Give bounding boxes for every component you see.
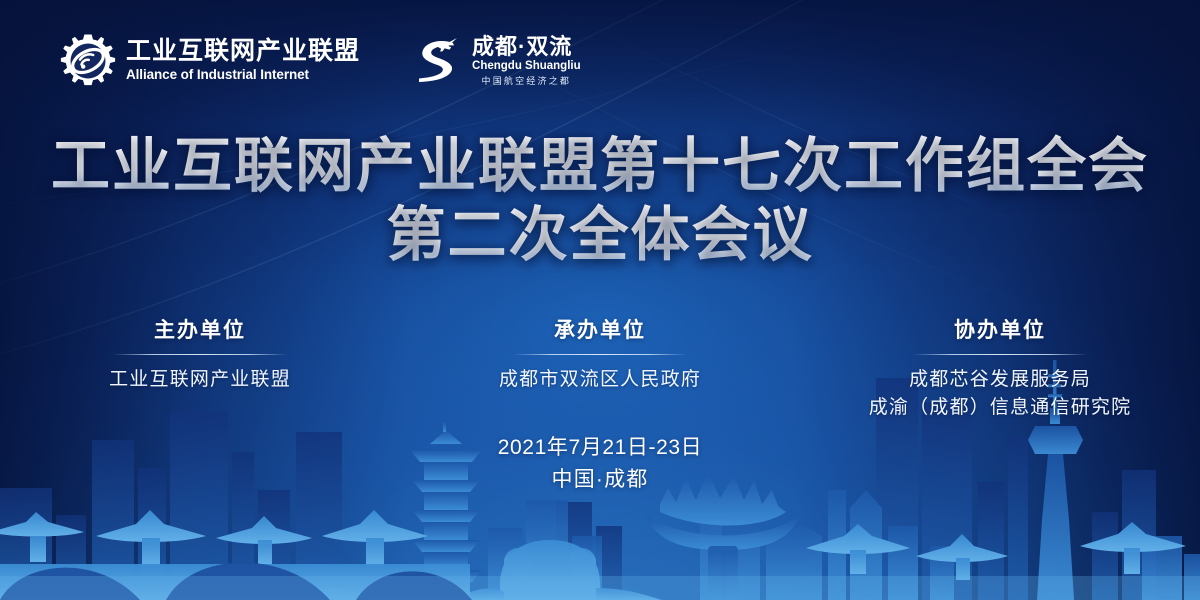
organizer-column-undertaker: 承办单位 成都市双流区人民政府 [400, 318, 800, 421]
conference-title: 工业互联网产业联盟第十七次工作组全会 第二次全体会议 [0, 132, 1200, 270]
logo-alliance-of-industrial-internet: 工业互联网产业联盟 Alliance of Industrial Interne… [60, 33, 360, 89]
organizer-name: 成都芯谷发展服务局 [814, 366, 1186, 394]
organizer-divider [513, 354, 687, 355]
logo-chengdu-shuangliu: 成都·双流 Chengdu Shuangliu 中国航空经济之都 [413, 33, 581, 89]
organizer-column-coorganizer: 协办单位 成都芯谷发展服务局 成渝（成都）信息通信研究院 [800, 318, 1200, 421]
organizer-column-host: 主办单位 工业互联网产业联盟 [0, 318, 400, 421]
event-date: 2021年7月21日-23日 [0, 432, 1200, 464]
organizers-row: 主办单位 工业互联网产业联盟 承办单位 成都市双流区人民政府 协办单位 成都芯谷… [0, 318, 1200, 421]
organizer-name: 工业互联网产业联盟 [14, 366, 386, 394]
chengdu-shuangliu-wordmark: 成都·双流 Chengdu Shuangliu 中国航空经济之都 [472, 35, 581, 87]
alliance-name-cn: 工业互联网产业联盟 [126, 38, 360, 65]
organizer-role-label: 协办单位 [814, 318, 1186, 343]
organizer-name-secondary: 成渝（成都）信息通信研究院 [814, 394, 1186, 422]
event-place: 中国·成都 [0, 464, 1200, 496]
title-line-2: 第二次全体会议 [0, 201, 1200, 270]
event-meta: 2021年7月21日-23日 中国·成都 [0, 432, 1200, 495]
conference-banner: 工业互联网产业联盟 Alliance of Industrial Interne… [0, 0, 1200, 600]
organizer-divider [913, 354, 1087, 355]
alliance-name-en: Alliance of Industrial Internet [126, 67, 360, 84]
gear-wifi-icon [60, 33, 116, 89]
alliance-wordmark: 工业互联网产业联盟 Alliance of Industrial Interne… [126, 38, 360, 84]
organizer-role-label: 主办单位 [14, 318, 386, 343]
logo-row: 工业互联网产业联盟 Alliance of Industrial Interne… [60, 33, 581, 89]
organizer-name: 成都市双流区人民政府 [414, 366, 786, 394]
title-line-1: 工业互联网产业联盟第十七次工作组全会 [0, 132, 1200, 201]
chengdu-shuangliu-name-en: Chengdu Shuangliu [472, 60, 581, 74]
organizer-role-label: 承办单位 [414, 318, 786, 343]
chengdu-shuangliu-tagline: 中国航空经济之都 [472, 76, 581, 87]
s-swoosh-airplane-icon [413, 33, 465, 89]
chengdu-shuangliu-name-cn: 成都·双流 [472, 35, 581, 59]
organizer-divider [113, 354, 287, 355]
